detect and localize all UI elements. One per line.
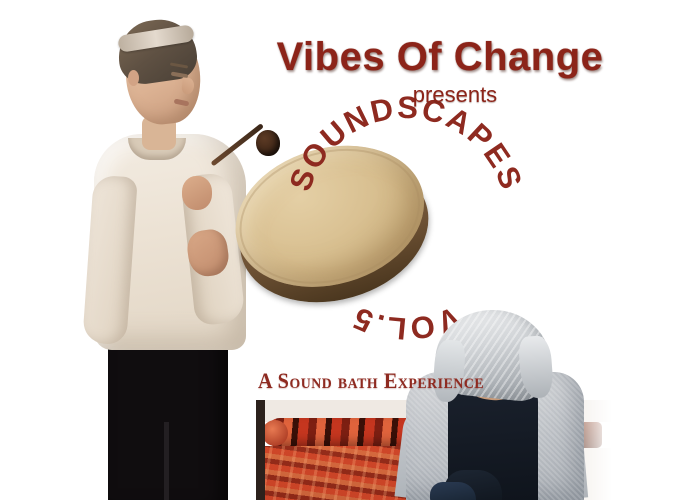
woman-photo <box>400 310 600 500</box>
woman-shoe <box>430 482 476 500</box>
drummer-left-hand <box>182 176 212 210</box>
drummer-ear <box>128 70 139 86</box>
poster-canvas: SOUNDSCAPES VOL.5 Vibes Of Change presen… <box>0 0 700 500</box>
tagline: A Sound bath Experience <box>258 368 484 394</box>
drummer-pants <box>108 330 228 500</box>
scene-left-edge <box>256 400 265 500</box>
page-title: Vibes Of Change <box>270 36 610 78</box>
page-subtitle: presents <box>330 82 580 108</box>
drum-mallet-head-icon <box>256 130 280 156</box>
scene-bolster-end <box>262 420 288 446</box>
